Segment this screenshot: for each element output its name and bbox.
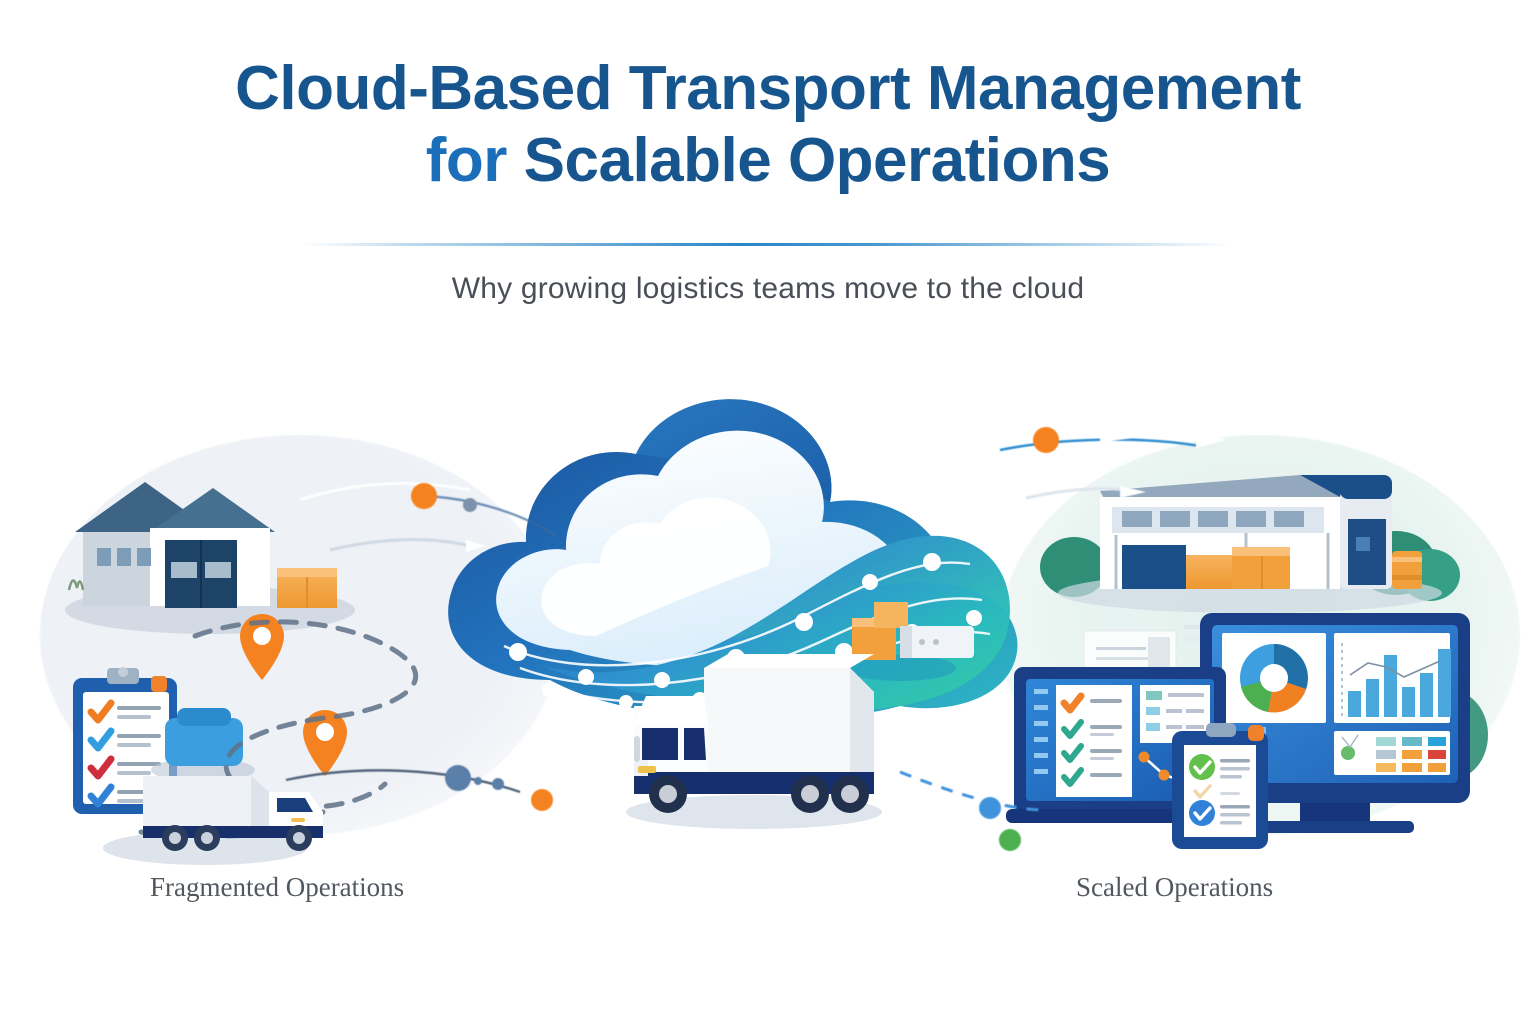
page-title-prefix: for [426, 126, 524, 195]
status-dot [999, 829, 1021, 851]
accent-dot [1033, 427, 1059, 453]
page-title-line-1: Cloud-Based Transport Management [0, 56, 1536, 122]
accent-dot [531, 789, 553, 811]
header-divider [303, 243, 1233, 246]
page-subtitle: Why growing logistics teams move to the … [0, 272, 1536, 306]
caption-fragmented-operations: Fragmented Operations [150, 872, 404, 903]
infographic-page: Cloud-Based Transport Management for Sca… [0, 0, 1536, 1024]
illustration-stage [0, 340, 1536, 900]
route-node-dot [445, 765, 471, 791]
route-node-dot [979, 797, 1001, 819]
accent-dot [411, 483, 437, 509]
page-title-line-2: for Scalable Operations [0, 128, 1536, 194]
header: Cloud-Based Transport Management for Sca… [0, 0, 1536, 193]
connector-overlay [0, 340, 1536, 900]
caption-scaled-operations: Scaled Operations [1076, 872, 1273, 903]
page-title-emphasis: Scalable Operations [524, 126, 1111, 195]
